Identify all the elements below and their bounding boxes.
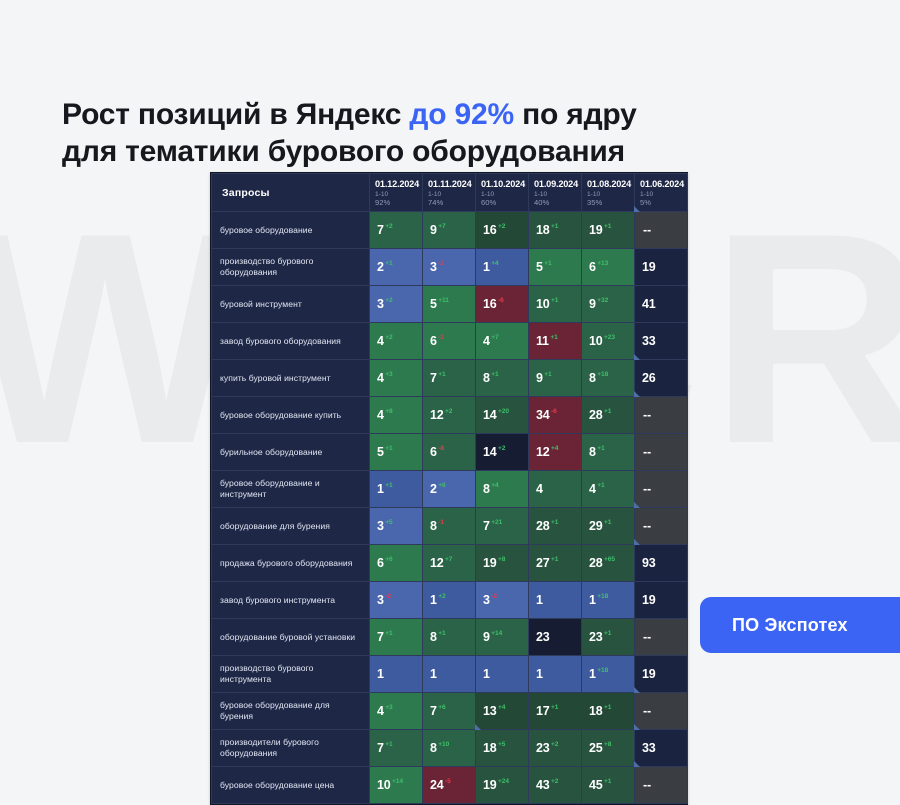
position-delta: +18 xyxy=(597,371,608,378)
position-value: 19 xyxy=(483,556,497,570)
position-cell: 33 xyxy=(635,323,688,360)
position-value: -- xyxy=(643,408,651,422)
position-delta: +1 xyxy=(551,704,558,711)
position-cell: 12+7 xyxy=(423,545,476,582)
position-value: 19 xyxy=(642,667,656,681)
position-cell: 6+6 xyxy=(370,545,423,582)
position-cell: 1+18 xyxy=(582,656,635,693)
position-delta: +1 xyxy=(438,630,445,637)
position-delta: +1 xyxy=(597,445,604,452)
position-delta: -2 xyxy=(491,593,497,600)
position-value: 1 xyxy=(589,667,596,681)
position-delta: +1 xyxy=(604,223,611,230)
position-delta: +1 xyxy=(551,223,558,230)
position-value: 1 xyxy=(377,667,384,681)
position-value: 18 xyxy=(483,741,497,755)
position-value: 6 xyxy=(377,556,384,570)
position-value: 7 xyxy=(430,371,437,385)
position-delta: -2 xyxy=(438,260,444,267)
position-delta: +4 xyxy=(491,260,498,267)
query-cell: буровое оборудование и инструмент xyxy=(212,471,370,508)
position-value: 8 xyxy=(483,371,490,385)
column-percent-label: 92% xyxy=(375,199,418,208)
position-value: 1 xyxy=(430,667,437,681)
column-percent-label: 5% xyxy=(640,199,683,208)
position-cell: 19+24 xyxy=(476,767,529,804)
position-delta: +2 xyxy=(498,445,505,452)
position-delta: +2 xyxy=(438,593,445,600)
column-date-label: 01.08.2024 xyxy=(587,179,630,189)
position-cell: 11+1 xyxy=(529,323,582,360)
position-delta: +5 xyxy=(385,519,392,526)
position-delta: +6 xyxy=(438,704,445,711)
positions-table-card: Запросы 01.12.20241-1092%01.11.20241-107… xyxy=(210,172,688,805)
position-value: 34 xyxy=(536,408,550,422)
position-value: 33 xyxy=(642,741,656,755)
position-value: 7 xyxy=(377,630,384,644)
position-delta: +3 xyxy=(385,371,392,378)
table-row: производители бурового оборудования7+18+… xyxy=(212,730,688,767)
position-value: 10 xyxy=(377,778,391,792)
position-delta: +2 xyxy=(385,334,392,341)
position-cell: 16+2 xyxy=(476,212,529,249)
position-delta: +10 xyxy=(438,741,449,748)
query-cell: оборудование для бурения xyxy=(212,508,370,545)
position-cell: 8+1 xyxy=(476,360,529,397)
position-delta: +4 xyxy=(551,445,558,452)
position-cell: 27+1 xyxy=(529,545,582,582)
position-value: 9 xyxy=(483,630,490,644)
table-row: оборудование буровой установки7+18+19+14… xyxy=(212,619,688,656)
column-date-label: 01.12.2024 xyxy=(375,179,418,189)
position-cell: 1 xyxy=(476,656,529,693)
table-row: буровое оборудование для бурения4+37+613… xyxy=(212,693,688,730)
position-cell: 6-8 xyxy=(423,434,476,471)
position-cell: 8+10 xyxy=(423,730,476,767)
position-delta: +6 xyxy=(438,482,445,489)
position-cell: 28+1 xyxy=(582,397,635,434)
position-delta: +21 xyxy=(491,519,502,526)
position-value: 4 xyxy=(377,408,384,422)
position-cell: 17+1 xyxy=(529,693,582,730)
position-value: -- xyxy=(643,445,651,459)
position-cell: 6-2 xyxy=(423,323,476,360)
position-cell: 12+4 xyxy=(529,434,582,471)
position-value: 2 xyxy=(430,482,437,496)
position-cell: 16-6 xyxy=(476,286,529,323)
position-value: 28 xyxy=(536,519,550,533)
position-cell: 1 xyxy=(423,656,476,693)
column-header-date-4: 01.08.20241-1035% xyxy=(582,174,635,212)
position-cell: 10+14 xyxy=(370,767,423,804)
position-delta: +2 xyxy=(551,741,558,748)
position-value: 12 xyxy=(536,445,550,459)
query-cell: производители бурового оборудования xyxy=(212,730,370,767)
position-cell: 4+7 xyxy=(476,323,529,360)
position-value: -- xyxy=(643,778,651,792)
position-delta: -8 xyxy=(438,445,444,452)
position-cell: 3-2 xyxy=(370,582,423,619)
position-value: 1 xyxy=(536,593,543,607)
query-cell: буровое оборудование купить xyxy=(212,397,370,434)
position-cell: 1 xyxy=(529,656,582,693)
position-delta: +1 xyxy=(385,482,392,489)
position-cell: 8-1 xyxy=(423,508,476,545)
position-value: 8 xyxy=(430,519,437,533)
position-value: 8 xyxy=(430,741,437,755)
table-row: производство бурового оборудования2+13-2… xyxy=(212,249,688,286)
position-cell: -- xyxy=(635,619,688,656)
position-cell: 8+4 xyxy=(476,471,529,508)
column-header-date-1: 01.11.20241-1074% xyxy=(423,174,476,212)
column-percent-label: 40% xyxy=(534,199,577,208)
position-delta: -6 xyxy=(498,297,504,304)
position-value: 45 xyxy=(589,778,603,792)
position-delta: +2 xyxy=(445,408,452,415)
position-delta: +3 xyxy=(385,704,392,711)
position-value: 4 xyxy=(377,334,384,348)
position-cell: 29+1 xyxy=(582,508,635,545)
query-cell: завод бурового оборудования xyxy=(212,323,370,360)
position-value: 3 xyxy=(483,593,490,607)
position-value: 7 xyxy=(377,741,384,755)
position-delta: +8 xyxy=(498,556,505,563)
position-value: 19 xyxy=(642,260,656,274)
position-delta: -6 xyxy=(551,408,557,415)
table-row: буровой инструмент3+25+1116-610+19+3241 xyxy=(212,286,688,323)
position-value: 4 xyxy=(483,334,490,348)
position-value: 19 xyxy=(483,778,497,792)
position-value: 23 xyxy=(536,630,550,644)
position-delta: +1 xyxy=(551,556,558,563)
position-delta: +1 xyxy=(604,408,611,415)
page-title: Рост позиций в Яндекс до 92% по ядру для… xyxy=(62,96,762,170)
position-value: 10 xyxy=(536,297,550,311)
query-cell: производство бурового инструмента xyxy=(212,656,370,693)
position-delta: +6 xyxy=(385,556,392,563)
table-header: Запросы 01.12.20241-1092%01.11.20241-107… xyxy=(212,174,688,212)
position-value: 16 xyxy=(483,223,497,237)
position-value: 7 xyxy=(430,704,437,718)
positions-table: Запросы 01.12.20241-1092%01.11.20241-107… xyxy=(211,173,688,804)
position-value: 10 xyxy=(589,334,603,348)
position-value: 6 xyxy=(430,445,437,459)
position-delta: +1 xyxy=(551,519,558,526)
position-cell: 7+2 xyxy=(370,212,423,249)
position-cell: 93 xyxy=(635,545,688,582)
position-delta: +7 xyxy=(445,556,452,563)
table-row: оборудование для бурения3+58-17+2128+129… xyxy=(212,508,688,545)
query-cell: производство бурового оборудования xyxy=(212,249,370,286)
position-delta: +14 xyxy=(392,778,403,785)
query-cell: буровое оборудование для бурения xyxy=(212,693,370,730)
column-header-queries: Запросы xyxy=(212,174,370,212)
position-value: 28 xyxy=(589,408,603,422)
position-cell: 12+2 xyxy=(423,397,476,434)
position-cell: 25+8 xyxy=(582,730,635,767)
table-row: производство бурового инструмента11111+1… xyxy=(212,656,688,693)
position-cell: 33 xyxy=(635,730,688,767)
position-cell: 5+1 xyxy=(529,249,582,286)
position-cell: 3-2 xyxy=(423,249,476,286)
position-value: 25 xyxy=(589,741,603,755)
position-cell: 7+1 xyxy=(370,730,423,767)
position-value: 1 xyxy=(430,593,437,607)
position-cell: 45+1 xyxy=(582,767,635,804)
position-cell: 1+2 xyxy=(423,582,476,619)
column-percent-label: 35% xyxy=(587,199,630,208)
position-value: 5 xyxy=(430,297,437,311)
position-delta: +1 xyxy=(604,630,611,637)
position-cell: 19 xyxy=(635,582,688,619)
position-cell: 1 xyxy=(370,656,423,693)
position-cell: -- xyxy=(635,471,688,508)
position-cell: -- xyxy=(635,508,688,545)
position-delta: +1 xyxy=(385,260,392,267)
position-cell: 43+2 xyxy=(529,767,582,804)
position-delta: +13 xyxy=(597,260,608,267)
position-delta: +14 xyxy=(491,630,502,637)
position-value: 4 xyxy=(377,371,384,385)
position-cell: 8+1 xyxy=(582,434,635,471)
position-delta: +1 xyxy=(438,371,445,378)
position-cell: 7+1 xyxy=(423,360,476,397)
position-cell: 4 xyxy=(529,471,582,508)
position-delta: -2 xyxy=(385,593,391,600)
position-cell: 10+23 xyxy=(582,323,635,360)
position-value: 3 xyxy=(377,297,384,311)
position-cell: 3+5 xyxy=(370,508,423,545)
position-delta: +1 xyxy=(385,445,392,452)
position-value: -- xyxy=(643,704,651,718)
position-value: 1 xyxy=(483,260,490,274)
position-value: 17 xyxy=(536,704,550,718)
position-cell: 7+1 xyxy=(370,619,423,656)
title-text-after: по ядру xyxy=(514,98,637,131)
position-value: 1 xyxy=(536,667,543,681)
position-value: 29 xyxy=(589,519,603,533)
position-value: 19 xyxy=(589,223,603,237)
position-cell: 8+18 xyxy=(582,360,635,397)
query-cell: буровой инструмент xyxy=(212,286,370,323)
position-cell: 23+1 xyxy=(582,619,635,656)
position-value: 8 xyxy=(589,371,596,385)
position-delta: +18 xyxy=(597,593,608,600)
position-value: 19 xyxy=(642,593,656,607)
position-value: 3 xyxy=(377,519,384,533)
position-cell: 4+3 xyxy=(370,360,423,397)
position-delta: +32 xyxy=(597,297,608,304)
position-cell: 9+32 xyxy=(582,286,635,323)
query-cell: бурильное оборудование xyxy=(212,434,370,471)
position-delta: +2 xyxy=(498,223,505,230)
column-header-date-3: 01.09.20241-1040% xyxy=(529,174,582,212)
position-value: 7 xyxy=(377,223,384,237)
position-delta: +7 xyxy=(438,223,445,230)
column-header-date-0: 01.12.20241-1092% xyxy=(370,174,423,212)
position-value: 5 xyxy=(536,260,543,274)
position-cell: 13+4 xyxy=(476,693,529,730)
position-delta: +11 xyxy=(438,297,449,304)
position-value: -- xyxy=(643,630,651,644)
position-delta: +2 xyxy=(551,778,558,785)
position-value: 6 xyxy=(430,334,437,348)
table-row: продажа бурового оборудования6+612+719+8… xyxy=(212,545,688,582)
table-row: завод бурового инструмента3-21+23-211+18… xyxy=(212,582,688,619)
position-value: 5 xyxy=(377,445,384,459)
position-value: 14 xyxy=(483,408,497,422)
column-header-date-2: 01.10.20241-1060% xyxy=(476,174,529,212)
position-delta: -5 xyxy=(445,778,451,785)
position-value: 9 xyxy=(536,371,543,385)
position-cell: 5+11 xyxy=(423,286,476,323)
table-body: буровое оборудование7+29+716+218+119+1--… xyxy=(212,212,688,804)
query-cell: завод бурового инструмента xyxy=(212,582,370,619)
position-cell: 18+1 xyxy=(529,212,582,249)
position-value: 11 xyxy=(536,334,549,348)
position-value: 26 xyxy=(642,371,656,385)
position-value: 16 xyxy=(483,297,497,311)
position-value: 27 xyxy=(536,556,550,570)
position-delta: +2 xyxy=(385,297,392,304)
column-date-label: 01.09.2024 xyxy=(534,179,577,189)
title-line-2: для тематики бурового оборудования xyxy=(62,135,625,168)
position-delta: +1 xyxy=(597,482,604,489)
table-row: бурильное оборудование5+16-814+212+48+1-… xyxy=(212,434,688,471)
position-cell: 2+6 xyxy=(423,471,476,508)
query-cell: буровое оборудование цена xyxy=(212,767,370,804)
position-cell: 28+65 xyxy=(582,545,635,582)
position-cell: 4+1 xyxy=(582,471,635,508)
position-cell: 2+1 xyxy=(370,249,423,286)
position-cell: 23+2 xyxy=(529,730,582,767)
position-value: 24 xyxy=(430,778,444,792)
position-cell: 23 xyxy=(529,619,582,656)
position-value: 3 xyxy=(430,260,437,274)
position-value: 18 xyxy=(536,223,550,237)
position-value: 43 xyxy=(536,778,550,792)
position-value: 33 xyxy=(642,334,656,348)
query-cell: оборудование буровой установки xyxy=(212,619,370,656)
position-cell: -- xyxy=(635,397,688,434)
position-value: 1 xyxy=(589,593,596,607)
position-cell: 6+13 xyxy=(582,249,635,286)
position-cell: -- xyxy=(635,434,688,471)
column-date-label: 01.06.2024 xyxy=(640,179,683,189)
position-delta: +1 xyxy=(385,630,392,637)
position-delta: +1 xyxy=(544,371,551,378)
position-value: 7 xyxy=(483,519,490,533)
position-cell: 3+2 xyxy=(370,286,423,323)
position-cell: 4+8 xyxy=(370,397,423,434)
table-row: буровое оборудование7+29+716+218+119+1-- xyxy=(212,212,688,249)
position-value: 8 xyxy=(430,630,437,644)
position-cell: 19+1 xyxy=(582,212,635,249)
position-cell: 34-6 xyxy=(529,397,582,434)
position-value: 4 xyxy=(377,704,384,718)
position-cell: 14+20 xyxy=(476,397,529,434)
position-delta: +20 xyxy=(498,408,509,415)
position-cell: 7+21 xyxy=(476,508,529,545)
position-value: 41 xyxy=(642,297,656,311)
position-value: 9 xyxy=(589,297,596,311)
position-delta: +4 xyxy=(491,482,498,489)
position-delta: +8 xyxy=(385,408,392,415)
position-cell: 4+3 xyxy=(370,693,423,730)
position-cell: 18+5 xyxy=(476,730,529,767)
column-date-label: 01.10.2024 xyxy=(481,179,524,189)
position-cell: 1 xyxy=(529,582,582,619)
title-text-before: Рост позиций в Яндекс xyxy=(62,98,409,131)
position-cell: 9+1 xyxy=(529,360,582,397)
position-delta: -2 xyxy=(438,334,444,341)
position-delta: +1 xyxy=(604,519,611,526)
position-delta: +1 xyxy=(385,741,392,748)
position-value: -- xyxy=(643,223,651,237)
position-cell: 1+1 xyxy=(370,471,423,508)
column-header-date-5: 01.06.20241-105% xyxy=(635,174,688,212)
position-value: 13 xyxy=(483,704,497,718)
position-cell: 19 xyxy=(635,249,688,286)
query-cell: купить буровой инструмент xyxy=(212,360,370,397)
table-header-row: Запросы 01.12.20241-1092%01.11.20241-107… xyxy=(212,174,688,212)
position-delta: +2 xyxy=(385,223,392,230)
position-delta: +7 xyxy=(491,334,498,341)
position-cell: 3-2 xyxy=(476,582,529,619)
position-value: 12 xyxy=(430,408,444,422)
position-delta: +1 xyxy=(550,334,557,341)
position-cell: 24-5 xyxy=(423,767,476,804)
position-delta: +1 xyxy=(544,260,551,267)
position-cell: 10+1 xyxy=(529,286,582,323)
table-row: купить буровой инструмент4+37+18+19+18+1… xyxy=(212,360,688,397)
table-row: буровое оборудование и инструмент1+12+68… xyxy=(212,471,688,508)
column-percent-label: 74% xyxy=(428,199,471,208)
position-delta: +18 xyxy=(597,667,608,674)
position-cell: 9+7 xyxy=(423,212,476,249)
position-value: 23 xyxy=(536,741,550,755)
position-cell: 1+4 xyxy=(476,249,529,286)
position-value: -- xyxy=(643,482,651,496)
column-date-label: 01.11.2024 xyxy=(428,179,471,189)
position-value: 8 xyxy=(483,482,490,496)
position-delta: +1 xyxy=(491,371,498,378)
position-cell: -- xyxy=(635,693,688,730)
position-cell: 4+2 xyxy=(370,323,423,360)
position-delta: +8 xyxy=(604,741,611,748)
position-delta: +65 xyxy=(604,556,615,563)
position-value: 23 xyxy=(589,630,603,644)
position-delta: +24 xyxy=(498,778,509,785)
position-delta: +1 xyxy=(604,778,611,785)
cta-button-expotech[interactable]: ПО Экспотех xyxy=(700,597,900,653)
position-value: 9 xyxy=(430,223,437,237)
position-value: 12 xyxy=(430,556,444,570)
position-delta: -1 xyxy=(438,519,444,526)
position-value: 3 xyxy=(377,593,384,607)
query-cell: буровое оборудование xyxy=(212,212,370,249)
position-value: 8 xyxy=(589,445,596,459)
position-cell: 41 xyxy=(635,286,688,323)
position-cell: 9+14 xyxy=(476,619,529,656)
position-cell: 14+2 xyxy=(476,434,529,471)
query-cell: продажа бурового оборудования xyxy=(212,545,370,582)
position-value: 6 xyxy=(589,260,596,274)
title-highlight: до 92% xyxy=(409,98,514,131)
position-delta: +5 xyxy=(498,741,505,748)
position-value: 1 xyxy=(483,667,490,681)
position-value: 28 xyxy=(589,556,603,570)
